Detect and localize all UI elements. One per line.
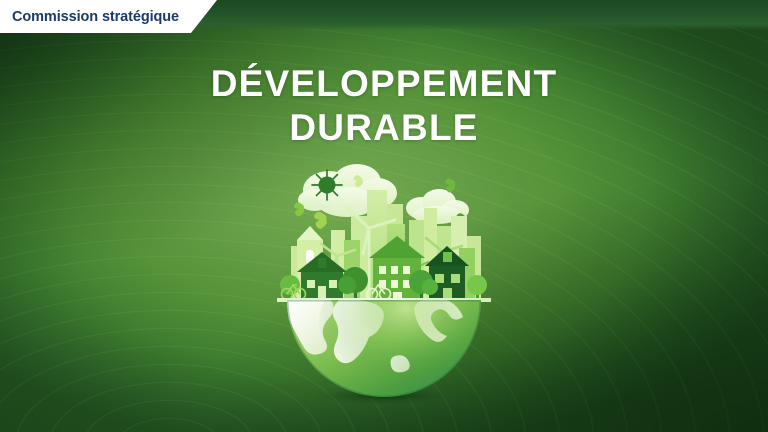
page-title-line-2: DURABLE (0, 106, 768, 150)
commission-banner-label: Commission stratégique (12, 9, 179, 25)
commission-banner: Commission stratégique (0, 0, 217, 33)
sun-disc (319, 177, 336, 194)
slide-canvas: Commission stratégique DÉVELOPPEMENT DUR… (0, 0, 768, 432)
page-title: DÉVELOPPEMENT DURABLE (0, 62, 768, 149)
sustainable-development-illustration (269, 160, 499, 405)
butterfly (445, 178, 455, 192)
butterfly (314, 212, 327, 229)
page-title-line-1: DÉVELOPPEMENT (0, 62, 768, 106)
